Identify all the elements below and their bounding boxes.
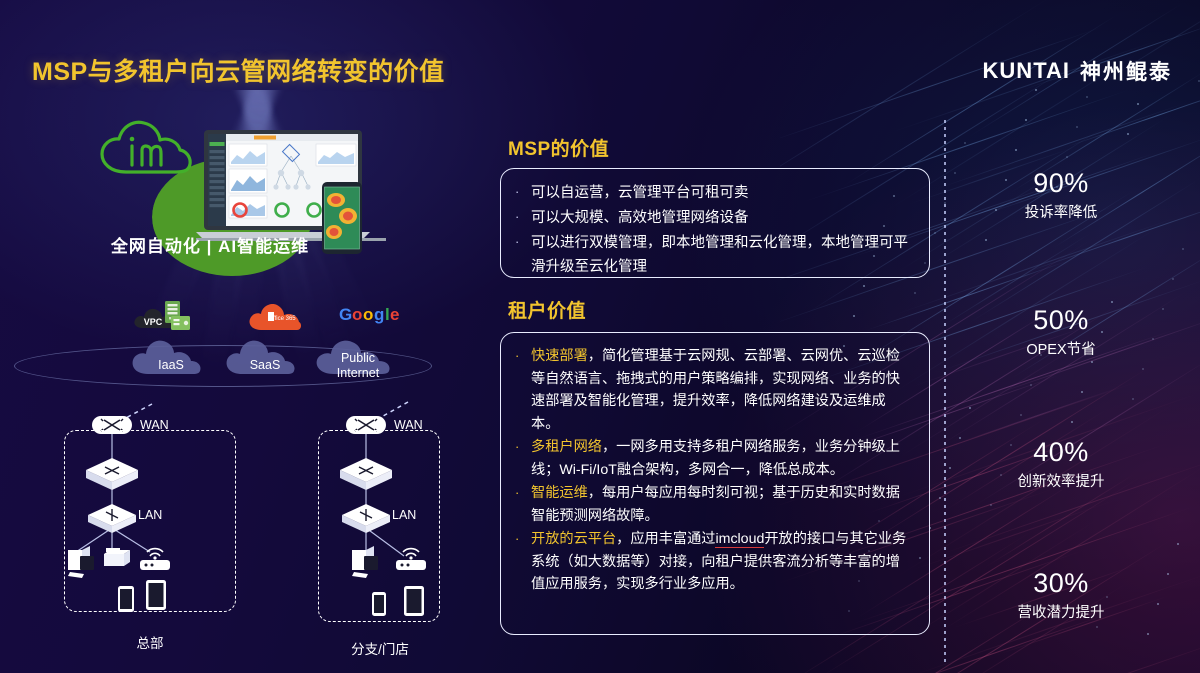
cloud-label-public-internet: PublicInternet [312,351,404,381]
stat-value: 40% [946,437,1176,468]
list-item: · 快速部署，简化管理基于云网规、云部署、云网优、云巡检等自然语言、拖拽式的用户… [515,345,913,435]
bullet-dot: · [515,181,523,205]
brand-logo: KUNTAI 神州鲲泰 [983,56,1172,86]
svg-text:o: o [352,305,362,324]
stat-revenue-potential: 30% 营收潜力提升 [946,568,1176,622]
list-item-text: 可以自运营，云管理平台可租可卖 [531,181,749,205]
svg-text:Office 365: Office 365 [268,316,296,322]
stat-opex-saving: 50% OPEX节省 [946,305,1176,359]
wan-label-headquarters: WAN [140,418,169,432]
topology-headquarters: WAN LAN 总部 [60,400,280,660]
list-item: · 可以进行双模管理，即本地管理和云化管理，本地管理可平滑升级至云化管理 [515,231,913,279]
panel-heading-tenant: 租户价值 [508,296,586,323]
list-item: · 开放的云平台，应用丰富通过imcloud开放的接口与其它业务系统（如大数据等… [515,528,913,596]
list-item-keyword: 多租户网络 [531,439,602,455]
svg-text:VPC: VPC [144,317,163,327]
google-badge: G o o g l e [339,304,401,329]
list-item: · 多租户网络，一网多用支持多租户网络服务，业务分钟级上线；Wi-Fi/IoT融… [515,436,913,481]
wan-label-branch: WAN [394,418,423,432]
svg-text:g: g [374,305,384,324]
svg-text:G: G [339,305,352,324]
list-item: · 智能运维，每用户每应用每时刻可视；基于历史和实时数据智能预测网络故障。 [515,482,913,527]
list-item-keyword: 开放的云平台 [531,531,616,547]
list-item-text: 可以进行双模管理，即本地管理和云化管理，本地管理可平滑升级至云化管理 [531,231,913,279]
page-title: MSP与多租户向云管网络转变的价值 [32,52,445,88]
server-icon [162,300,192,337]
bullet-dot: · [515,436,523,481]
logo-cn-text: 神州鲲泰 [1080,56,1172,86]
panel-tenant-value: · 快速部署，简化管理基于云网规、云部署、云网优、云巡检等自然语言、拖拽式的用户… [500,332,930,635]
list-item-keyword: 快速部署 [531,348,588,364]
stat-innovation-efficiency: 40% 创新效率提升 [946,437,1176,491]
panel-msp-value: · 可以自运营，云管理平台可租可卖 · 可以大规模、高效地管理网络设备 · 可以… [500,168,930,278]
bullet-dot: · [515,345,523,435]
cloud-label-saas: SaaS [222,358,308,372]
list-item: · 可以大规模、高效地管理网络设备 [515,206,913,230]
product-name-imcloud: imcloud [715,531,764,548]
stat-label: 创新效率提升 [946,470,1176,491]
panel-heading-msp: MSP的价值 [508,134,609,161]
list-item-text: 快速部署，简化管理基于云网规、云部署、云网优、云巡检等自然语言、拖拽式的用户策略… [531,345,913,435]
stat-label: 投诉率降低 [946,201,1176,222]
site-label-branch: 分支/门店 [310,638,450,658]
stat-label: OPEX节省 [946,338,1176,359]
stat-value: 90% [946,168,1176,199]
list-item-keyword: 智能运维 [531,485,588,501]
topology-branch: WAN LAN 分支/门店 [300,400,480,660]
imcloud-logo [96,116,196,191]
cloud-services-group: IaaS VPC [0,290,440,400]
bullet-dot: · [515,528,523,596]
list-item: · 可以自运营，云管理平台可租可卖 [515,181,913,205]
site-label-headquarters: 总部 [80,632,220,652]
cloud-service-public-internet: PublicInternet [312,326,404,382]
list-item-text: 可以大规模、高效地管理网络设备 [531,206,749,230]
slide-background: MSP与多租户向云管网络转变的价值 KUNTAI 神州鲲泰 [0,0,1200,673]
stat-complaint-rate: 90% 投诉率降低 [946,168,1176,222]
cloud-label-iaas: IaaS [128,358,214,372]
office365-badge: Office 365 [248,302,302,337]
lan-label-headquarters: LAN [138,508,162,522]
list-item-text: 开放的云平台，应用丰富通过imcloud开放的接口与其它业务系统（如大数据等）对… [531,528,913,596]
site-boundary-branch [318,430,440,622]
list-item-text: 多租户网络，一网多用支持多租户网络服务，业务分钟级上线；Wi-Fi/IoT融合架… [531,436,913,481]
lan-label-branch: LAN [392,508,416,522]
bullet-dot: · [515,231,523,279]
svg-text:o: o [363,305,373,324]
list-item-text: 智能运维，每用户每应用每时刻可视；基于历史和实时数据智能预测网络故障。 [531,482,913,527]
logo-en-text: KUNTAI [983,58,1070,84]
left-illustration: 全网自动化 | AI智能运维 IaaS VPC [0,100,470,673]
stat-value: 50% [946,305,1176,336]
illustration-caption: 全网自动化 | AI智能运维 [0,232,420,257]
stat-value: 30% [946,568,1176,599]
bullet-dot: · [515,482,523,527]
bullet-dot: · [515,206,523,230]
svg-text:e: e [390,305,399,324]
stat-label: 营收潜力提升 [946,601,1176,622]
